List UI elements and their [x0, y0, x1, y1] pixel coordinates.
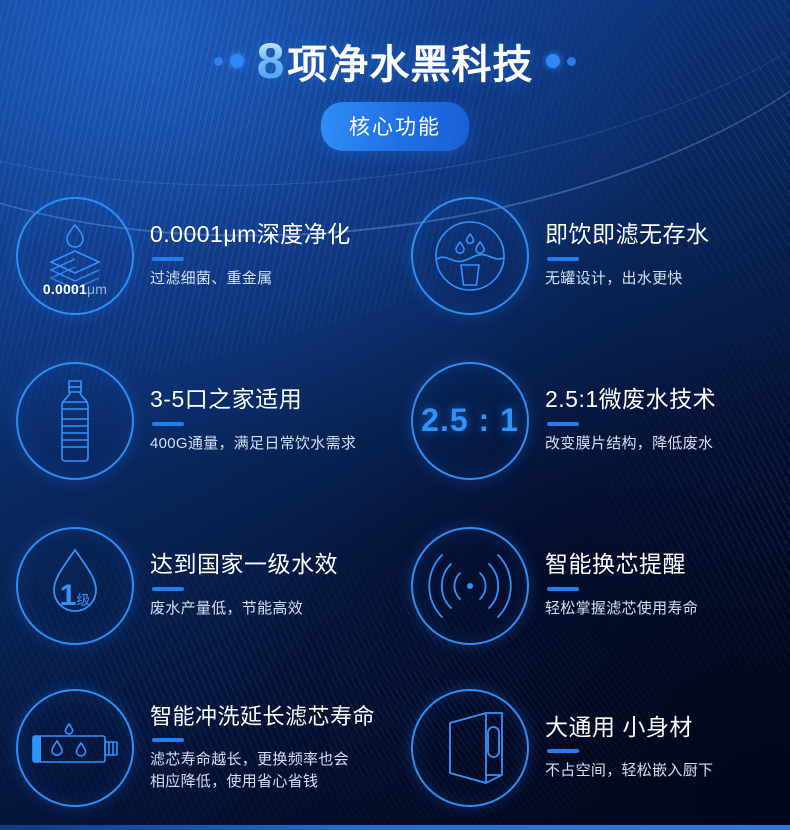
accent-bar — [547, 422, 579, 426]
feature-title: 3-5口之家适用 — [150, 386, 385, 412]
feature-text: 达到国家一级水效 废水产量低，节能高效 — [150, 551, 395, 619]
feature-item-compact-size: 大通用 小身材 不占空间，轻松嵌入厨下 — [395, 668, 790, 828]
icon-value: 1 — [60, 579, 77, 612]
feature-text: 智能换芯提醒 轻松掌握滤芯使用寿命 — [545, 551, 790, 619]
dot-icon — [567, 57, 576, 66]
page-title: 8项净水黑科技 — [257, 36, 534, 86]
dot-icon — [230, 54, 244, 68]
water-glass-icon — [411, 197, 529, 315]
feature-text: 0.0001μm深度净化 过滤细菌、重金属 — [150, 221, 395, 289]
feature-item-water-efficiency-grade: 1级 达到国家一级水效 废水产量低，节能高效 — [0, 503, 395, 668]
feature-subtitle: 过滤细菌、重金属 — [150, 268, 385, 290]
feature-subtitle: 400G通量，满足日常饮水需求 — [150, 433, 385, 455]
title-number: 8 — [257, 33, 288, 89]
ratio-text: 2.5 : 1 — [421, 402, 519, 439]
icon-unit: μm — [87, 281, 107, 297]
accent-bar — [547, 587, 579, 591]
signal-waves-icon — [411, 527, 529, 645]
feature-subtitle: 改变膜片结构，降低废水 — [545, 433, 780, 455]
feature-title: 智能冲洗延长滤芯寿命 — [150, 704, 385, 729]
accent-bar — [547, 749, 579, 753]
feature-item-instant-filtering: 即饮即滤无存水 无罐设计，出水更快 — [395, 173, 790, 338]
title-text: 项净水黑科技 — [287, 43, 533, 87]
feature-text: 智能冲洗延长滤芯寿命 滤芯寿命越长，更换频率也会 相应降低，使用省心省钱 — [150, 704, 395, 793]
accent-bar — [152, 738, 184, 742]
purifier-cabinet-icon — [411, 689, 529, 807]
title-row: 8项净水黑科技 — [0, 36, 790, 86]
accent-bar — [152, 422, 184, 426]
icon-wrapper — [0, 362, 150, 480]
feature-subtitle: 不占空间，轻松嵌入厨下 — [545, 760, 780, 782]
accent-bar — [152, 257, 184, 261]
feature-text: 大通用 小身材 不占空间，轻松嵌入厨下 — [545, 714, 790, 782]
icon-wrapper — [0, 689, 150, 807]
feature-title: 2.5:1微废水技术 — [545, 386, 780, 412]
water-bottle-icon — [16, 362, 134, 480]
icon-wrapper: 1级 — [0, 527, 150, 645]
feature-text: 即饮即滤无存水 无罐设计，出水更快 — [545, 221, 790, 289]
dot-icon — [214, 57, 223, 66]
icon-wrapper: 2.5 : 1 — [395, 362, 545, 480]
feature-title: 智能换芯提醒 — [545, 551, 780, 577]
feature-title: 0.0001μm深度净化 — [150, 221, 385, 247]
dot-icon — [546, 54, 560, 68]
badge-wrapper: 核心功能 — [0, 102, 790, 151]
feature-item-family-size: 3-5口之家适用 400G通量，满足日常饮水需求 — [0, 338, 395, 503]
ratio-icon: 2.5 : 1 — [411, 362, 529, 480]
icon-value: 0.0001 — [43, 281, 87, 297]
icon-wrapper — [395, 527, 545, 645]
bottom-accent-strip — [0, 825, 790, 830]
feature-subtitle: 无罐设计，出水更快 — [545, 268, 780, 290]
feature-item-deep-purification: 0.0001μm 0.0001μm深度净化 过滤细菌、重金属 — [0, 173, 395, 338]
feature-text: 2.5:1微废水技术 改变膜片结构，降低废水 — [545, 386, 790, 454]
accent-bar — [152, 587, 184, 591]
title-dots-right — [546, 54, 576, 68]
feature-subtitle: 轻松掌握滤芯使用寿命 — [545, 598, 780, 620]
feature-title: 即饮即滤无存水 — [545, 221, 780, 247]
title-dots-left — [214, 54, 244, 68]
icon-value-label: 1级 — [18, 579, 132, 613]
icon-unit: 级 — [76, 592, 90, 608]
feature-subtitle: 滤芯寿命越长，更换频率也会 — [150, 749, 385, 771]
icon-wrapper — [395, 197, 545, 315]
icon-wrapper: 0.0001μm — [0, 197, 150, 315]
feature-item-smart-flush: 智能冲洗延长滤芯寿命 滤芯寿命越长，更换频率也会 相应降低，使用省心省钱 — [0, 668, 395, 828]
icon-value-label: 0.0001μm — [18, 281, 132, 297]
water-droplet-grade-icon: 1级 — [16, 527, 134, 645]
feature-text: 3-5口之家适用 400G通量，满足日常饮水需求 — [150, 386, 395, 454]
feature-title: 达到国家一级水效 — [150, 551, 385, 577]
feature-item-low-wastewater: 2.5 : 1 2.5:1微废水技术 改变膜片结构，降低废水 — [395, 338, 790, 503]
feature-subtitle-line2: 相应降低，使用省心省钱 — [150, 771, 385, 793]
filter-layers-icon: 0.0001μm — [16, 197, 134, 315]
feature-grid: 0.0001μm 0.0001μm深度净化 过滤细菌、重金属 — [0, 173, 790, 828]
accent-bar — [547, 257, 579, 261]
icon-wrapper — [395, 689, 545, 807]
feature-subtitle: 废水产量低，节能高效 — [150, 598, 385, 620]
feature-item-filter-reminder: 智能换芯提醒 轻松掌握滤芯使用寿命 — [395, 503, 790, 668]
core-function-badge: 核心功能 — [321, 102, 469, 151]
filter-cartridge-icon — [16, 689, 134, 807]
header: 8项净水黑科技 核心功能 — [0, 0, 790, 151]
feature-title: 大通用 小身材 — [545, 714, 780, 740]
poster-root: 8项净水黑科技 核心功能 0.0001μm — [0, 0, 790, 830]
